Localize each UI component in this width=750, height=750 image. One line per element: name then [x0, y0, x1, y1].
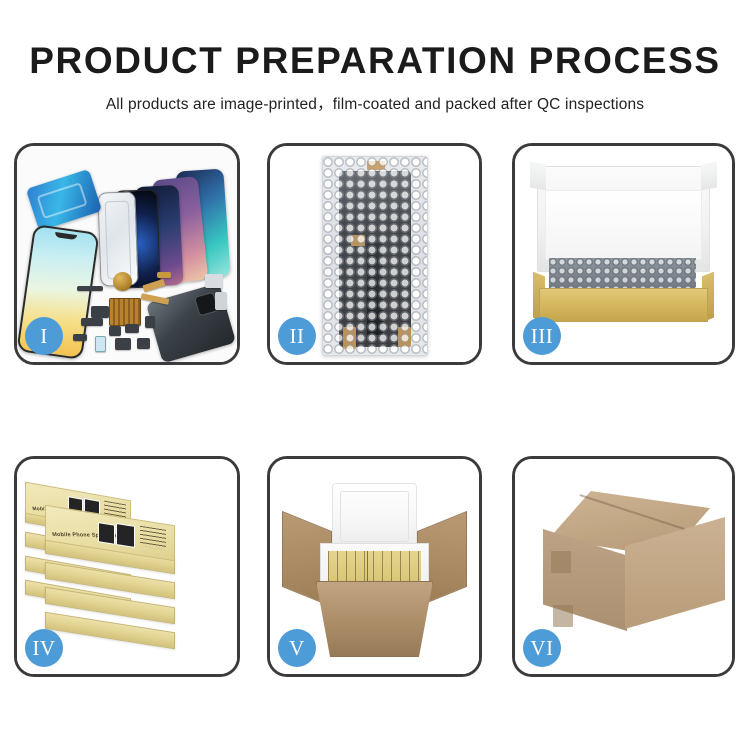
connector-part-b	[109, 326, 121, 336]
tool-part-a	[205, 274, 223, 288]
foam-sheet	[545, 190, 702, 260]
tool-part-b	[215, 292, 227, 310]
connector-part-c	[125, 324, 139, 333]
buzzer-part	[137, 338, 150, 349]
tape-piece-middle	[351, 235, 365, 246]
tape-piece-bottom-right	[398, 327, 411, 347]
chip-grid-part	[109, 298, 141, 326]
process-step-panel-3[interactable]: III	[512, 143, 735, 365]
process-step-panel-5[interactable]: V	[267, 456, 482, 677]
box-thumbnail-front-a	[98, 522, 115, 545]
tape-piece-bottom-left	[343, 327, 356, 349]
step-badge-6: VI	[523, 629, 561, 667]
connector-part-a	[81, 318, 103, 326]
button-flex-part	[73, 334, 87, 341]
step-badge-4: IV	[25, 629, 63, 667]
process-step-panel-6[interactable]: VI	[512, 456, 735, 677]
camera-module-part	[91, 306, 109, 318]
box-front-kraft	[539, 288, 708, 322]
carton-tape-lower	[553, 605, 573, 627]
step-badge-5: V	[278, 629, 316, 667]
box-spec-lines-front	[140, 526, 166, 550]
bubble-wrap-package	[322, 156, 428, 356]
box-thumbnail-front-b	[116, 523, 135, 548]
sim-tray-part	[95, 336, 106, 352]
step-badge-3: III	[523, 317, 561, 355]
earpiece-part	[115, 338, 131, 350]
antenna-strip-part	[77, 286, 103, 291]
carton-tape-upper	[551, 551, 571, 573]
step-badge-1: I	[25, 317, 63, 355]
step-badge-2: II	[278, 317, 316, 355]
speaker-part	[113, 272, 132, 291]
foam-cooler-lid	[332, 483, 417, 551]
process-step-panel-1[interactable]: I	[14, 143, 240, 365]
tape-piece-top	[367, 161, 385, 170]
process-step-panel-4[interactable]: Mobile Phone Spare Parts Mobile Phone Sp…	[14, 456, 240, 677]
grey-bubble-wrap-contents	[549, 258, 696, 292]
wrapped-flex-cable	[367, 243, 383, 335]
process-step-panel-2[interactable]: II	[267, 143, 482, 365]
gold-contact-part	[157, 272, 171, 278]
vibrator-part	[145, 316, 155, 328]
process-panel-grid: I II	[0, 0, 750, 750]
adhesive-sticker-sheet	[26, 169, 102, 231]
carton-body	[316, 581, 433, 657]
